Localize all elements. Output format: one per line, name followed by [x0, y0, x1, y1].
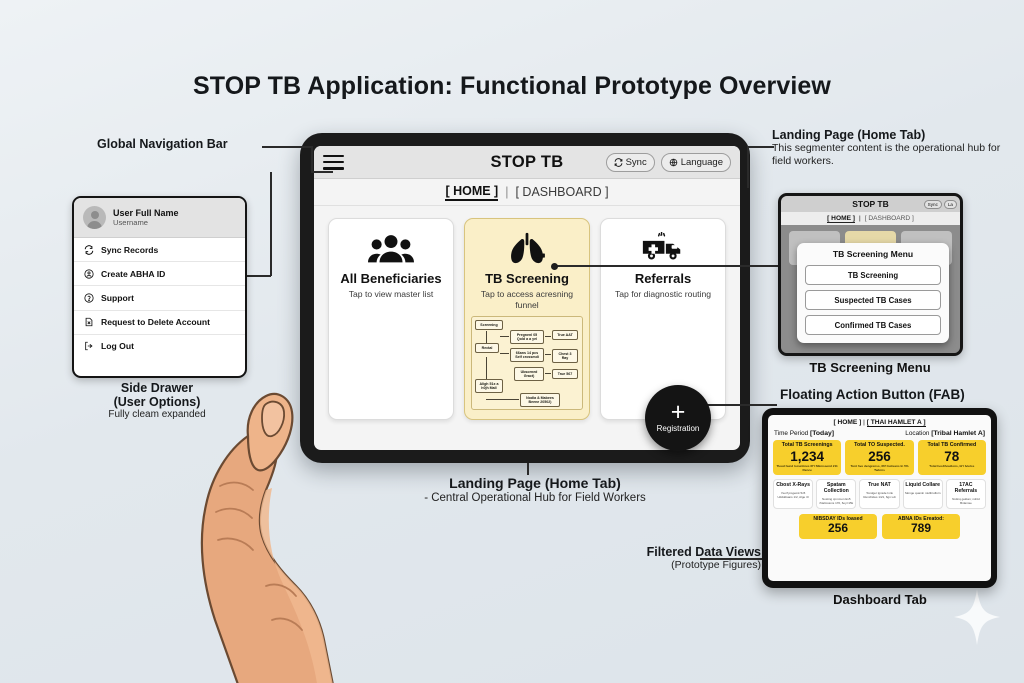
mini-card[interactable]: True NAT Tondger lgnsde Ixnk Renchides 1… [859, 479, 899, 509]
drawer-item-create-abha-id[interactable]: Create ABHA ID [74, 262, 245, 286]
help-circle-icon [84, 293, 94, 303]
drawer-item-support[interactable]: Support [74, 286, 245, 310]
mini-label: Liquid Collare [905, 483, 941, 489]
mini-card[interactable]: 17AC Referrals Nsttnq gektan; ndnld Bnla… [946, 479, 986, 509]
mock-app-bar: STOP TB Sync La [781, 196, 960, 212]
time-period-value: [Today] [810, 430, 834, 437]
flow-node: Nodla & Mabees Beene 20502) [520, 393, 560, 407]
flow-node: Ubsorned Gract) [514, 367, 544, 381]
connector-landing-top [748, 146, 774, 148]
annotation-sub: This segmenter content is the operationa… [772, 142, 1012, 169]
card-tb-screening[interactable]: TB Screening Tap to access acresning fun… [464, 218, 590, 420]
annotation-title: Landing Page (Home Tab) [330, 475, 740, 491]
popup-title: TB Screening Menu [805, 249, 941, 259]
kpi-note: Tleud hund locuntines 6f'l Slkmssend 211… [775, 464, 839, 472]
connector-filtered [700, 558, 762, 560]
kpi-card[interactable]: Total TB Screenings 1,234 Tleud hund loc… [773, 440, 841, 475]
connector-globalnav-h [262, 146, 312, 148]
card-subtitle: Tap to view master list [335, 289, 447, 300]
flow-node: True 567 [552, 369, 578, 378]
location-filter[interactable]: Location [Tribal Hamlet A] [905, 430, 985, 437]
tb-screening-menu-mock: STOP TB Sync La [ HOME ] | [ DASHBOARD ]… [778, 193, 963, 356]
drawer-item-request-delete-account[interactable]: Request to Delete Account [74, 311, 245, 335]
mini-note: Nosting cpmmon Ex5 /Nalmsions 170, 6oy=1… [818, 497, 854, 505]
dashboard-filters: Time Period [Today] Location [Tribal Ham… [773, 428, 986, 440]
mock-language-button[interactable]: La [944, 200, 957, 209]
mock-body: TB Screening Menu TB Screening Suspected… [781, 225, 960, 356]
people-group-icon [335, 229, 447, 267]
mini-card-row: Cbost X-Rays Yeor'lyrogemk 5x5 Uddddsans… [773, 479, 986, 509]
drawer-item-sync-records[interactable]: Sync Records [74, 238, 245, 262]
id-value: 789 [884, 522, 958, 536]
flow-arrow [486, 331, 487, 343]
mock-tab-dashboard[interactable]: [ DASHBOARD ] [865, 215, 914, 222]
kpi-label: Total TO Suspected. [847, 443, 911, 449]
annotation-fab: Floating Action Button (FAB) [780, 387, 965, 402]
mock-tab-sep: | [859, 215, 861, 222]
kpi-card[interactable]: Total TB Confirmed 78 Total heolthoutlon… [918, 440, 986, 475]
mock-tab-bar: [ HOME ] | [ DASHBOARD ] [781, 212, 960, 225]
time-period-label: Time Period [774, 430, 808, 437]
kpi-row: Total TB Screenings 1,234 Tleud hund loc… [773, 440, 986, 475]
card-title: All Beneficiaries [335, 272, 447, 287]
annotation-title-l1: Side Drawer [62, 381, 252, 395]
drawer-user-handle: Username [113, 218, 179, 227]
sync-label: Sync [626, 157, 647, 168]
popup-item-suspected-tb-cases[interactable]: Suspected TB Cases [805, 290, 941, 310]
id-card[interactable]: ABNA IDs Ereatod: 789 [882, 514, 960, 539]
location-label: Location [905, 430, 929, 437]
connector-tbmenu [556, 265, 788, 267]
id-value: 256 [801, 522, 875, 536]
annotation-title: Floating Action Button (FAB) [780, 387, 965, 402]
kpi-value: 256 [847, 449, 911, 465]
flow-node: Chest 3 Ray [552, 349, 578, 363]
flow-arrow [500, 353, 509, 354]
tab-home[interactable]: [ HOME ] [445, 184, 498, 201]
mock-app-title: STOP TB [852, 199, 889, 209]
tab-bar: [ HOME ] | [ DASHBOARD ] [314, 179, 740, 206]
annotation-title-l2: (User Options) [62, 395, 252, 409]
sync-icon [84, 245, 94, 255]
floating-action-button[interactable]: + Registration [645, 385, 711, 451]
dash-tab-sep: | [863, 419, 865, 426]
mini-label: 17AC Referrals [948, 483, 984, 495]
abha-id-icon [84, 269, 94, 279]
kpi-card[interactable]: Total TO Suspected. 256 Tunt hve dengren… [845, 440, 913, 475]
connector-landing-top-v [747, 146, 749, 188]
annotation-landing-bottom: Landing Page (Home Tab) - Central Operat… [330, 475, 740, 506]
flow-arrow [545, 354, 551, 355]
sparkle-decoration [954, 589, 1000, 645]
mini-card[interactable]: Liquid Collare Skmge quantn niulibrulfor… [903, 479, 943, 509]
app-bar: STOP TB Sync [314, 146, 740, 179]
connector-globalnav-h2 [311, 171, 333, 173]
kpi-value: 1,234 [775, 449, 839, 465]
annotation-title: Landing Page (Home Tab) [772, 128, 1012, 142]
delete-account-icon [84, 317, 94, 327]
globe-icon [669, 158, 678, 167]
annotation-landing-top: Landing Page (Home Tab) This segmenter c… [772, 128, 1012, 169]
dash-tab-location[interactable]: [ THAI HAMLET A ] [867, 419, 926, 427]
kpi-label: Total TB Confirmed [920, 443, 984, 449]
connector-dot-tbscreening [551, 263, 558, 270]
flow-arrow [486, 399, 519, 400]
dashboard-tab-mock: [ HOME ] | [ THAI HAMLET A ] Time Period… [762, 408, 997, 588]
hamburger-icon[interactable] [323, 155, 344, 170]
mini-label: Spatam Collection [818, 483, 854, 495]
language-label: Language [681, 157, 723, 168]
mock-sync-button[interactable]: Sync [924, 200, 942, 209]
card-title: Referrals [607, 272, 719, 287]
mini-note: Tondger lgnsde Ixnk Renchides 1\21, 6gn … [861, 491, 897, 499]
plus-icon: + [671, 403, 686, 421]
card-subtitle: Tap to access acresning funnel [471, 289, 583, 310]
kpi-value: 78 [920, 449, 984, 465]
lungs-icon [471, 229, 583, 267]
drawer-item-label: Sync Records [101, 245, 158, 255]
annotation-sub: (Prototype Figures) [596, 559, 761, 572]
mini-card[interactable]: Spatam Collection Nosting cpmmon Ex5 /Na… [816, 479, 856, 509]
drawer-item-label: Support [101, 293, 134, 303]
drawer-item-label: Log Out [101, 341, 134, 351]
mini-label: Cbost X-Rays [775, 483, 811, 489]
mini-note: Nsttnq gektan; ndnld Bnlamse [948, 497, 984, 505]
id-card-row: NIBSDAY IDs loased 256 ABNA IDs Ereatod:… [773, 514, 986, 539]
screening-funnel-diagram: Screening Rectal Pregnenl 05 Qold a a ye… [471, 316, 583, 410]
mini-label: True NAT [861, 483, 897, 489]
logout-icon [84, 341, 94, 351]
caption-tb-screening-menu: TB Screening Menu [770, 360, 970, 375]
annotation-title: Global Navigation Bar [97, 137, 228, 151]
dashboard-tab-bar: [ HOME ] | [ THAI HAMLET A ] [773, 419, 986, 428]
annotation-title: Filtered Data Views [596, 545, 761, 559]
language-button[interactable]: Language [661, 153, 731, 172]
card-all-beneficiaries[interactable]: All Beneficiaries Tap to view master lis… [328, 218, 454, 420]
page-title: STOP TB Application: Functional Prototyp… [0, 72, 1024, 101]
drawer-item-label: Request to Delete Account [101, 317, 210, 327]
tab-dashboard[interactable]: [ DASHBOARD ] [515, 185, 608, 199]
drawer-item-label: Create ABHA ID [101, 269, 165, 279]
flow-node: 66ans 14 pcs Self crossmdi [510, 348, 544, 362]
connector-drawer-h [243, 275, 271, 277]
mini-note: Skmge quantn niulibrulforn [905, 491, 941, 495]
tab-separator: | [505, 185, 508, 199]
connector-drawer-v [270, 172, 272, 276]
connector-landing-bottom [527, 463, 529, 475]
drawer-item-log-out[interactable]: Log Out [74, 335, 245, 358]
drawer-user-header: User Full Name Username [74, 198, 245, 238]
ambulance-icon [607, 229, 719, 267]
flow-node: Aligh 51x a h0jh Mall [475, 379, 503, 393]
flow-node: Rectal [475, 343, 499, 352]
mock-tab-home[interactable]: [ HOME ] [827, 215, 855, 223]
fab-label: Registration [657, 424, 700, 433]
sync-button[interactable]: Sync [606, 153, 655, 172]
card-subtitle: Tap for diagnostic routing [607, 289, 719, 300]
id-card[interactable]: NIBSDAY IDs loased 256 [799, 514, 877, 539]
popup-item-tb-screening[interactable]: TB Screening [805, 265, 941, 285]
flow-node: Screening [475, 320, 503, 329]
time-period-filter[interactable]: Time Period [Today] [774, 430, 834, 437]
drawer-user-name: User Full Name [113, 208, 179, 219]
tb-screening-menu-popup: TB Screening Menu TB Screening Suspected… [797, 243, 949, 343]
flow-node: Pregnenl 05 Qold a a yel [510, 330, 544, 344]
mini-note: Yeor'lyrogemk 5x5 Uddddsans 1/2, Alge r0 [775, 491, 811, 499]
flow-arrow [500, 336, 509, 337]
flow-node: True AAT [552, 330, 578, 339]
flow-arrow [486, 357, 487, 379]
flow-arrow [545, 336, 551, 337]
location-value: [Tribal Hamlet A] [931, 430, 985, 437]
sync-icon [614, 158, 623, 167]
side-drawer[interactable]: User Full Name Username Sync Records Cre… [72, 196, 247, 378]
kpi-note: Tunt hve dengrenss, 66'l hwtsans In 5% T… [847, 464, 911, 472]
connector-globalnav-v [311, 146, 313, 172]
avatar [83, 206, 106, 229]
annotation-global-nav: Global Navigation Bar [97, 137, 228, 151]
annotation-sub: - Central Operational Hub for Field Work… [330, 491, 740, 506]
dash-tab-home[interactable]: [ HOME ] [833, 419, 861, 426]
kpi-note: Total heolthoutlons, bl'l lvtelss [920, 464, 984, 468]
dashboard-screen: [ HOME ] | [ THAI HAMLET A ] Time Period… [768, 415, 991, 581]
annotation-side-drawer: Side Drawer (User Options) Fully cleam e… [62, 381, 252, 422]
connector-fab [705, 404, 777, 406]
mini-card[interactable]: Cbost X-Rays Yeor'lyrogemk 5x5 Uddddsans… [773, 479, 813, 509]
annotation-sub: Fully cleam expanded [62, 409, 252, 422]
kpi-label: Total TB Screenings [775, 443, 839, 449]
card-title: TB Screening [471, 272, 583, 287]
popup-item-confirmed-tb-cases[interactable]: Confirmed TB Cases [805, 315, 941, 335]
flow-arrow [545, 373, 551, 374]
